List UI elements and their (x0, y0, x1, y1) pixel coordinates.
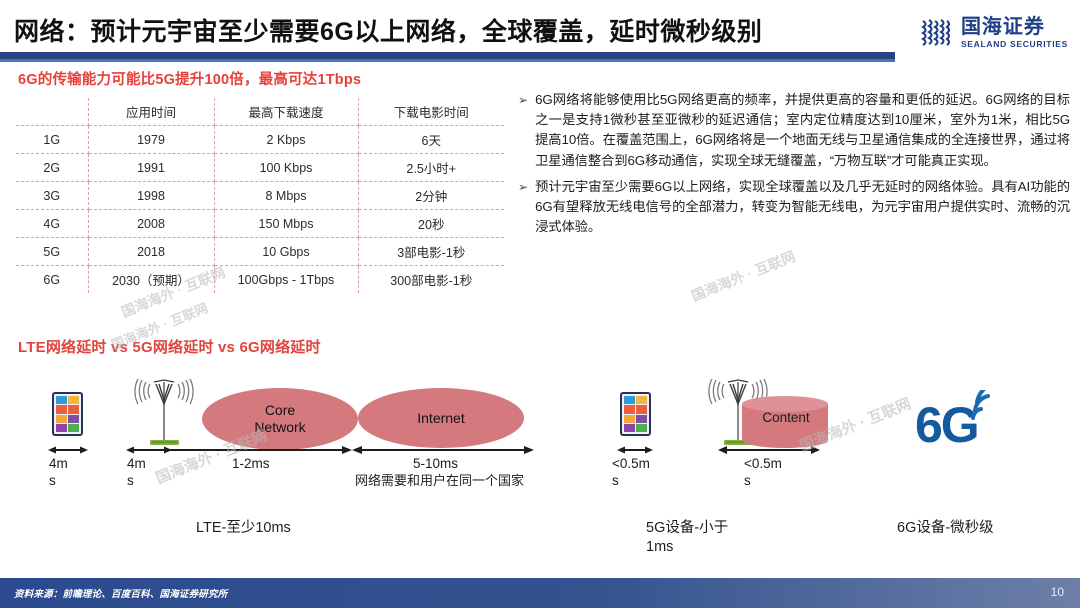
table-cell: 100 Kbps (214, 154, 358, 182)
table-row: 1G19792 Kbps6天 (16, 126, 504, 154)
table-cell: 1G (16, 126, 88, 154)
6g-wifi-logo-icon: 6G (915, 390, 999, 448)
table-cell: 1991 (88, 154, 214, 182)
table-cell: 1998 (88, 182, 214, 210)
analysis-bullet-list: ➢6G网络将能够使用比5G网络更高的频率，并提供更高的容量和更低的延迟。6G网络… (518, 90, 1070, 243)
internet-ellipse: Internet (358, 388, 524, 448)
company-logo: 国海证券 SEALAND SECURITIES (920, 12, 1068, 54)
core-network-label: Core Network (254, 402, 305, 436)
table-cell: 5G (16, 238, 88, 266)
table-cell: 3G (16, 182, 88, 210)
bullet-arrow-icon: ➢ (518, 177, 528, 238)
smartphone-tiles-icon (52, 392, 83, 436)
table-cell: 2018 (88, 238, 214, 266)
table-cell: 6G (16, 266, 88, 294)
table-cell: 2G (16, 154, 88, 182)
table-cell: 2030（预期） (88, 266, 214, 294)
table-row: 6G2030（预期）100Gbps - 1Tbps300部电影-1秒 (16, 266, 504, 294)
table-row: 5G201810 Gbps3部电影-1秒 (16, 238, 504, 266)
internet-delay-label: 5-10ms (413, 455, 458, 472)
table-cell: 300部电影-1秒 (358, 266, 504, 294)
fiveg-phone-latency-label: <0.5m s (612, 455, 650, 489)
sixg-caption: 6G设备-微秒级 (897, 519, 994, 538)
core-delay-label: 1-2ms (232, 455, 270, 472)
svg-text:6G: 6G (915, 397, 978, 448)
page-title: 网络：预计元宇宙至少需要6G以上网络，全球覆盖，延时微秒级别 (14, 12, 884, 48)
table-cell: 1979 (88, 126, 214, 154)
header-rule-highlight (0, 59, 895, 62)
table-cell: 2分钟 (358, 182, 504, 210)
table-cell: 10 Gbps (214, 238, 358, 266)
lte-caption: LTE-至少10ms (196, 519, 291, 538)
bullet-arrow-icon: ➢ (518, 90, 528, 171)
cell-tower-icon (126, 370, 202, 450)
table-col-header (16, 98, 88, 126)
generation-spec-table: 应用时间最高下载速度下载电影时间1G19792 Kbps6天2G1991100 … (16, 98, 504, 293)
fiveg-content-latency-label: <0.5m s (744, 455, 782, 489)
table-cell: 6天 (358, 126, 504, 154)
table-cell: 150 Mbps (214, 210, 358, 238)
table-cell: 4G (16, 210, 88, 238)
table-row: 3G19988 Mbps2分钟 (16, 182, 504, 210)
table-cell: 8 Mbps (214, 182, 358, 210)
lte-tower-latency-label: 4m s (127, 455, 146, 489)
table-col-header: 最高下载速度 (214, 98, 358, 126)
source-note: 资料来源：前瞻理论、百度百科、国海证券研究所 (14, 586, 227, 600)
lte-phone-latency-label: 4m s (49, 455, 68, 489)
bullet-item: ➢预计元宇宙至少需要6G以上网络，实现全球覆盖以及几乎无延时的网络体验。具有AI… (518, 177, 1070, 238)
table-section-heading: 6G的传输能力可能比5G提升100倍，最高可达1Tbps (18, 68, 361, 89)
fiveg-caption: 5G设备-小于 1ms (646, 519, 728, 557)
table-header-row: 应用时间最高下载速度下载电影时间 (16, 98, 504, 126)
same-country-note: 网络需要和用户在同一个国家 (355, 472, 524, 489)
table-cell: 20秒 (358, 210, 504, 238)
diagram-section-heading: LTE网络延时 vs 5G网络延时 vs 6G网络延时 (18, 336, 321, 357)
smartphone-tiles-icon-5g (620, 392, 651, 436)
table-row: 2G1991100 Kbps2.5小时+ (16, 154, 504, 182)
table-cell: 2.5小时+ (358, 154, 504, 182)
table-cell: 2008 (88, 210, 214, 238)
sealand-weave-mark-icon (920, 16, 954, 50)
bullet-item: ➢6G网络将能够使用比5G网络更高的频率，并提供更高的容量和更低的延迟。6G网络… (518, 90, 1070, 171)
internet-label: Internet (417, 410, 464, 427)
logo-name-en: SEALAND SECURITIES (961, 40, 1068, 49)
page-number: 10 (1051, 585, 1064, 599)
table-cell: 100Gbps - 1Tbps (214, 266, 358, 294)
table-col-header: 下载电影时间 (358, 98, 504, 126)
table-cell: 2 Kbps (214, 126, 358, 154)
content-label: Content (740, 410, 832, 425)
slide-canvas: 网络：预计元宇宙至少需要6G以上网络，全球覆盖，延时微秒级别 国海证券 SEAL… (0, 0, 1080, 608)
table-cell: 3部电影-1秒 (358, 238, 504, 266)
core-network-ellipse: Core Network (202, 388, 358, 450)
logo-name-cn: 国海证券 (961, 17, 1045, 37)
table-col-header: 应用时间 (88, 98, 214, 126)
table-row: 4G2008150 Mbps20秒 (16, 210, 504, 238)
watermark: 国海海外 · 互联网 (688, 246, 798, 306)
bullet-text: 预计元宇宙至少需要6G以上网络，实现全球覆盖以及几乎无延时的网络体验。具有AI功… (535, 177, 1070, 238)
latency-comparison-diagram: 4m s 4m s Core Network Internet (0, 362, 1080, 562)
bullet-text: 6G网络将能够使用比5G网络更高的频率，并提供更高的容量和更低的延迟。6G网络的… (535, 90, 1070, 171)
